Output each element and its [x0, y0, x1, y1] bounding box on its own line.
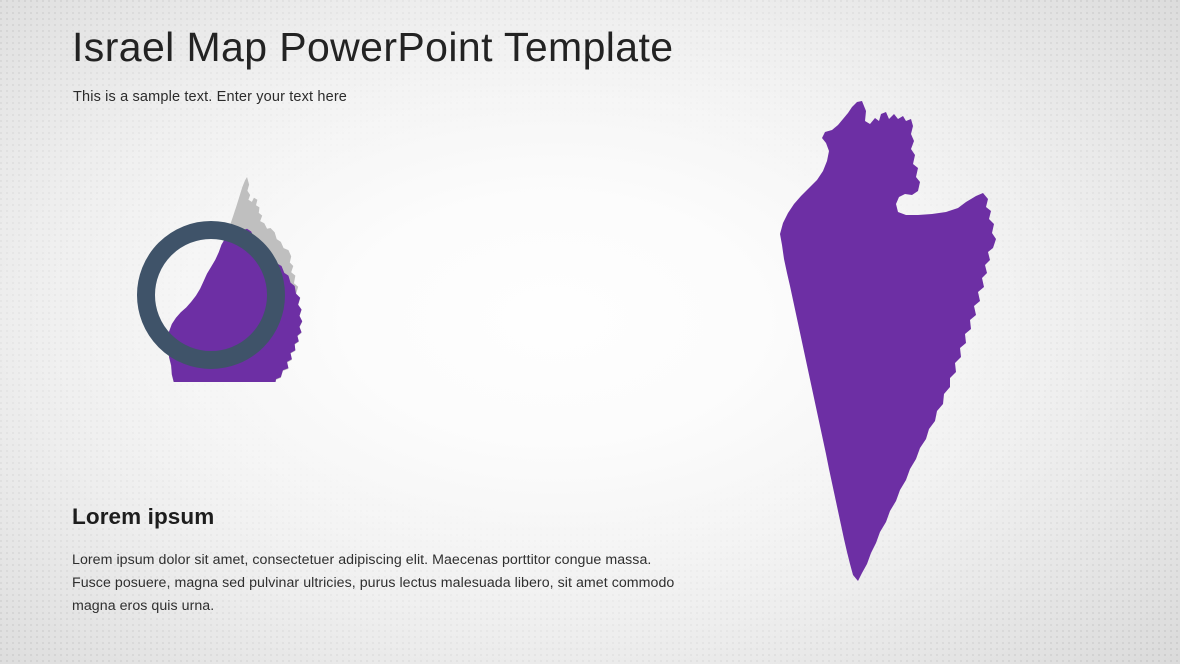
slide-canvas: Israel Map PowerPoint Template This is a… [0, 0, 1180, 664]
body-block: Lorem ipsum Lorem ipsum dolor sit amet, … [72, 503, 692, 618]
title-block: Israel Map PowerPoint Template This is a… [72, 22, 832, 107]
israel-map-circle-badge [118, 172, 304, 382]
page-subtitle: This is a sample text. Enter your text h… [73, 88, 832, 107]
body-paragraph: Lorem ipsum dolor sit amet, consectetuer… [72, 549, 687, 618]
israel-map [780, 88, 1020, 598]
body-heading: Lorem ipsum [72, 503, 692, 530]
israel-map-shape [780, 101, 996, 581]
page-title: Israel Map PowerPoint Template [72, 22, 832, 72]
